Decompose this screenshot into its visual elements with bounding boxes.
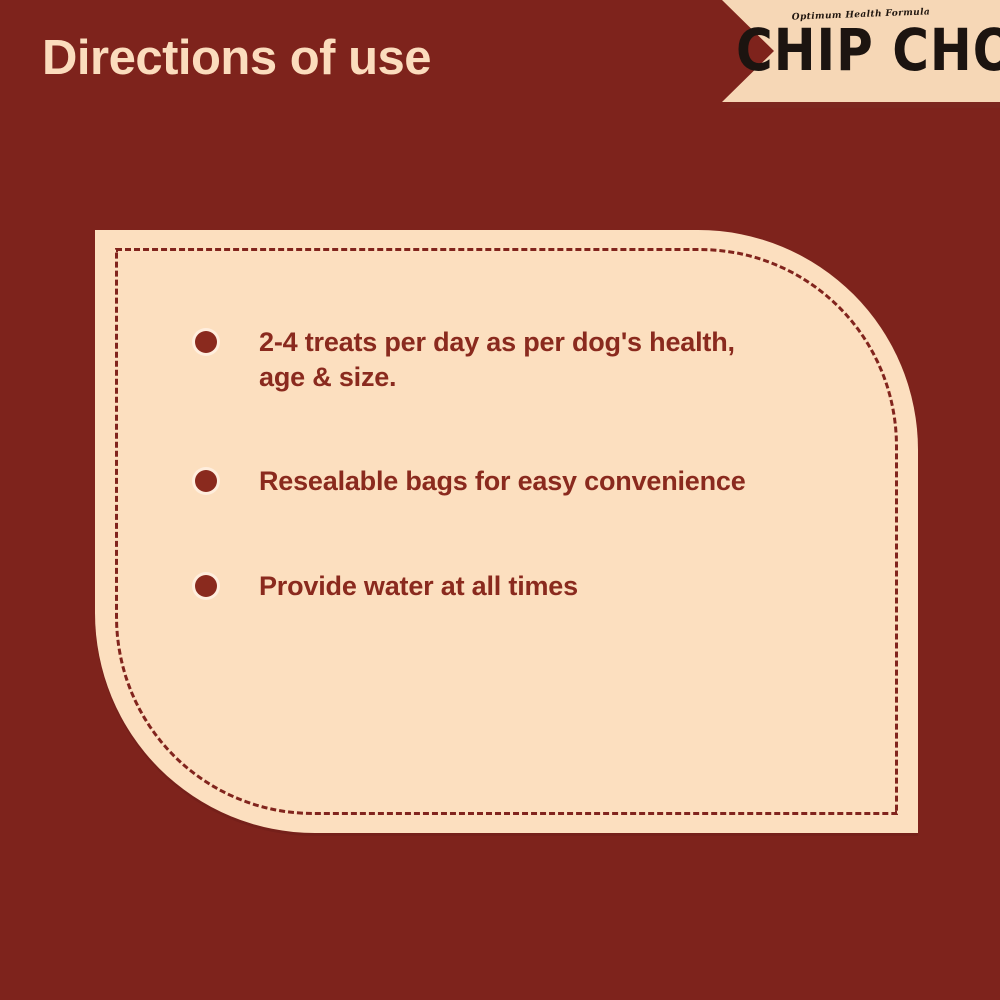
list-item: Resealable bags for easy convenience [195, 464, 755, 499]
list-item: Provide water at all times [195, 569, 755, 604]
list-item: 2-4 treats per day as per dog's health, … [195, 325, 755, 394]
directions-card: 2-4 treats per day as per dog's health, … [95, 230, 918, 833]
header-bar: Directions of use Optimum Health Formula… [0, 0, 1000, 108]
logo-wordmark: CHIP CHOPs [736, 18, 986, 99]
brand-logo: Optimum Health Formula CHIP CHOPs [736, 4, 986, 96]
poster-canvas: Directions of use Optimum Health Formula… [0, 0, 1000, 1000]
page-title: Directions of use [42, 30, 431, 86]
list-item-label: Resealable bags for easy convenience [259, 464, 746, 499]
bullet-dot-icon [195, 575, 217, 597]
list-item-label: Provide water at all times [259, 569, 578, 604]
list-item-label: 2-4 treats per day as per dog's health, … [259, 325, 755, 394]
logo-wordmark-main: CHIP CHOP [736, 17, 1000, 84]
directions-bullet-list: 2-4 treats per day as per dog's health, … [195, 325, 755, 603]
bullet-dot-icon [195, 331, 217, 353]
bullet-dot-icon [195, 470, 217, 492]
